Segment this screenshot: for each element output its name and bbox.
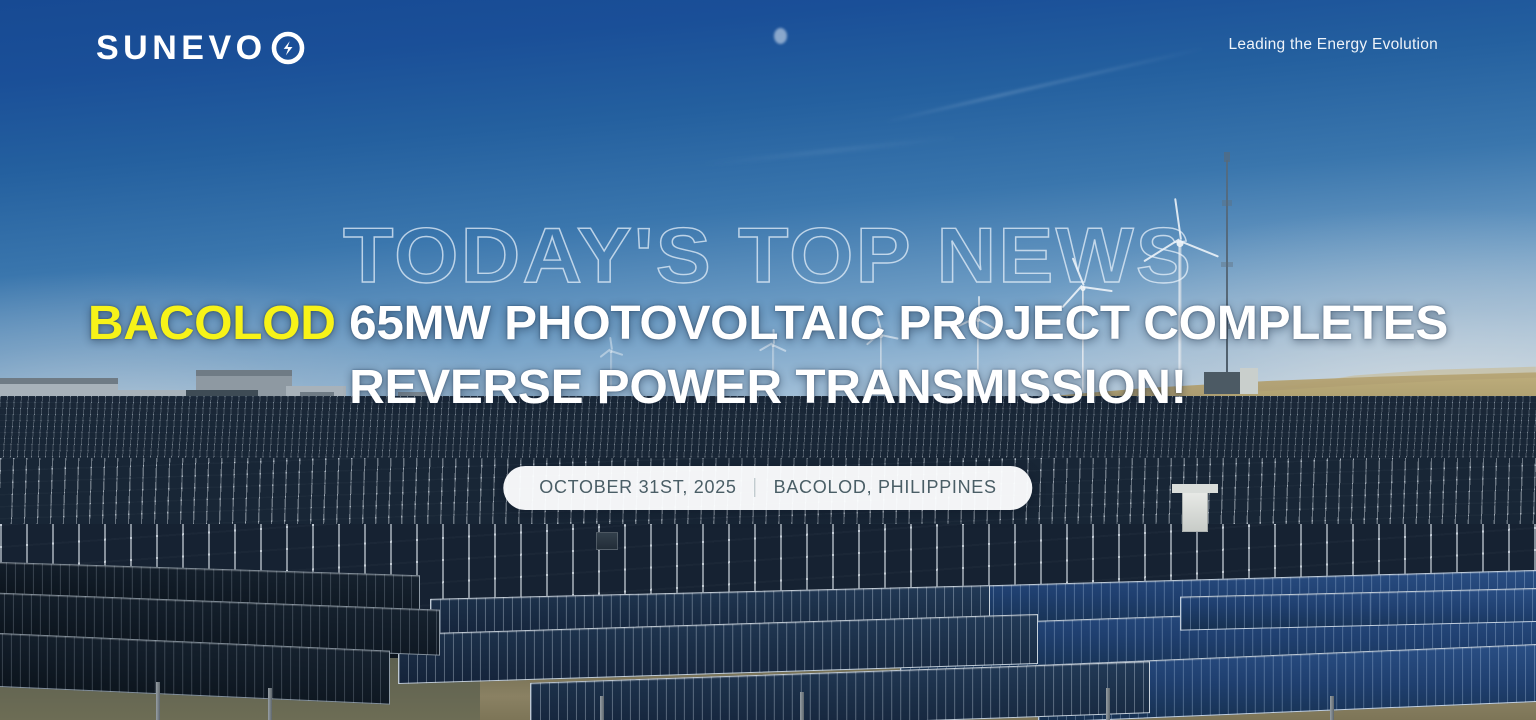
date-location-badge: OCTOBER 31ST, 2025 BACOLOD, PHILIPPINES <box>503 466 1032 510</box>
lightning-bolt-in-circle-icon <box>270 30 306 66</box>
badge-date: OCTOBER 31ST, 2025 <box>539 477 736 498</box>
moon <box>774 28 787 44</box>
page-title: BACOLOD 65MW PHOTOVOLTAIC PROJECT COMPLE… <box>0 292 1536 421</box>
mounting-post <box>800 692 804 720</box>
headline-line2: REVERSE POWER TRANSMISSION! <box>349 361 1187 414</box>
hero-banner: SUNEVO Leading the Energy Evolution TODA… <box>0 0 1536 720</box>
logo[interactable]: SUNEVO <box>96 30 306 66</box>
inverter-cabinet-roof <box>1172 484 1218 493</box>
mast-crossarm <box>1222 200 1232 206</box>
junction-box <box>596 532 618 550</box>
badge-divider <box>755 478 756 497</box>
ghost-title: TODAY'S TOP NEWS <box>0 216 1536 294</box>
mounting-post <box>1106 688 1110 720</box>
solar-panel-array <box>0 396 1536 720</box>
headline-line1: 65MW PHOTOVOLTAIC PROJECT COMPLETES <box>349 297 1448 350</box>
headline-accent: BACOLOD <box>88 297 336 350</box>
inverter-cabinet <box>1182 492 1208 532</box>
tagline: Leading the Energy Evolution <box>1228 36 1438 54</box>
mounting-post <box>1330 696 1334 720</box>
mounting-post <box>600 696 604 720</box>
mounting-post <box>156 682 160 720</box>
mounting-post <box>268 688 272 720</box>
badge-location: BACOLOD, PHILIPPINES <box>774 477 997 498</box>
logo-text: SUNEVO <box>96 31 267 65</box>
